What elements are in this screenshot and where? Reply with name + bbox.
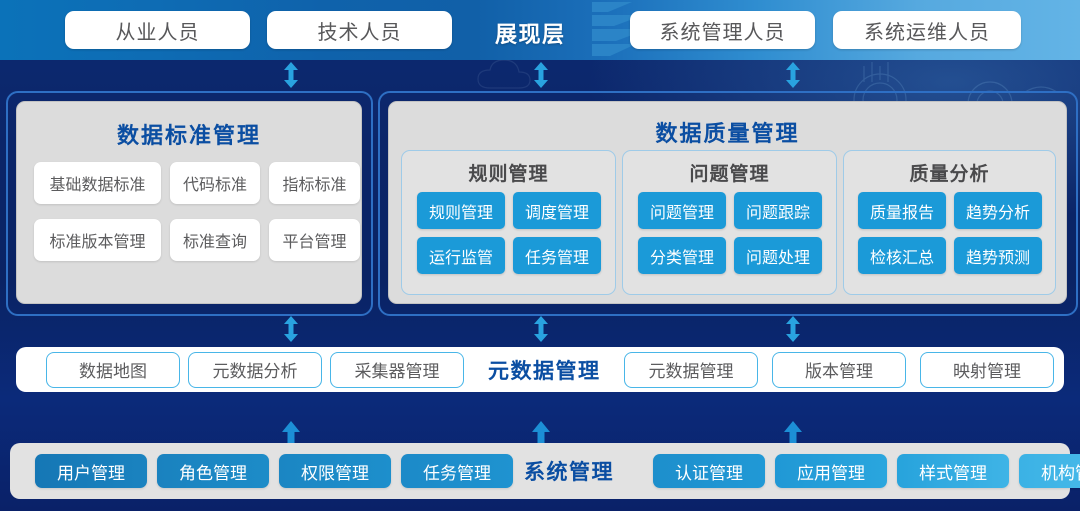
data-standard-title: 数据标准管理 — [17, 118, 361, 150]
button-label: 用户管理 — [57, 459, 125, 484]
metadata-management-title: 元数据管理 — [488, 355, 601, 385]
quality-group-title: 质量分析 — [844, 159, 1055, 186]
role-pill-2[interactable]: 系统管理人员 — [630, 11, 815, 49]
double-arrow-icon-3 — [785, 62, 801, 88]
metadata-button-2[interactable]: 采集器管理 — [330, 352, 464, 388]
button-label: 元数据管理 — [649, 357, 734, 382]
button-label: 数据地图 — [79, 357, 147, 382]
double-arrow-icon-5 — [533, 316, 549, 342]
button-label: 质量报告 — [870, 199, 934, 223]
quality-button[interactable]: 质量报告 — [858, 192, 946, 229]
quality-button[interactable]: 趋势预测 — [954, 237, 1042, 274]
system-button-1[interactable]: 角色管理 — [157, 454, 269, 488]
metadata-button-5[interactable]: 映射管理 — [920, 352, 1054, 388]
double-arrow-icon-2 — [533, 62, 549, 88]
role-pill-1[interactable]: 技术人员 — [267, 11, 452, 49]
quality-group-0: 规则管理 规则管理 调度管理 运行监管 任务管理 — [401, 150, 616, 295]
quality-button[interactable]: 检核汇总 — [858, 237, 946, 274]
button-label: 基础数据标准 — [49, 171, 145, 195]
button-label: 元数据分析 — [213, 357, 298, 382]
quality-button[interactable]: 问题跟踪 — [734, 192, 822, 229]
architecture-diagram: 从业人员 技术人员 展现层 系统管理人员 系统运维人员 数据标准管理 基础数据标… — [0, 0, 1080, 511]
system-management-title: 系统管理 — [524, 456, 614, 486]
data-quality-panel: 数据质量管理 规则管理 规则管理 调度管理 运行监管 任务管理 问题管 — [388, 101, 1067, 304]
button-label: 映射管理 — [953, 357, 1021, 382]
double-arrow-icon-4 — [283, 316, 299, 342]
button-label: 版本管理 — [805, 357, 873, 382]
button-label: 问题处理 — [746, 244, 810, 268]
button-label: 检核汇总 — [870, 244, 934, 268]
button-label: 趋势分析 — [966, 199, 1030, 223]
button-label: 标准版本管理 — [49, 228, 145, 252]
button-label: 运行监管 — [429, 244, 493, 268]
button-label: 问题管理 — [650, 199, 714, 223]
quality-group-2: 质量分析 质量报告 趋势分析 检核汇总 趋势预测 — [843, 150, 1056, 295]
button-label: 规则管理 — [429, 199, 493, 223]
data-standard-panel: 数据标准管理 基础数据标准 代码标准 指标标准 标准版本管理 标准查询 平台管理 — [16, 101, 362, 304]
role-label: 系统管理人员 — [660, 16, 786, 45]
button-label: 权限管理 — [301, 459, 369, 484]
metadata-button-0[interactable]: 数据地图 — [46, 352, 180, 388]
quality-button[interactable]: 规则管理 — [417, 192, 505, 229]
quality-button[interactable]: 趋势分析 — [954, 192, 1042, 229]
metadata-button-1[interactable]: 元数据分析 — [188, 352, 322, 388]
standard-button-3[interactable]: 标准版本管理 — [34, 219, 161, 261]
system-management-row: 用户管理 角色管理 权限管理 任务管理 系统管理 认证管理 应用管理 样式管理 … — [10, 443, 1070, 499]
quality-button[interactable]: 问题管理 — [638, 192, 726, 229]
system-button-6[interactable]: 样式管理 — [897, 454, 1009, 488]
button-label: 问题跟踪 — [746, 199, 810, 223]
button-label: 采集器管理 — [355, 357, 440, 382]
standard-button-0[interactable]: 基础数据标准 — [34, 162, 161, 204]
button-label: 机构管理 — [1041, 459, 1080, 484]
button-label: 任务管理 — [525, 244, 589, 268]
data-quality-title: 数据质量管理 — [389, 116, 1066, 148]
standard-button-1[interactable]: 代码标准 — [170, 162, 260, 204]
system-button-2[interactable]: 权限管理 — [279, 454, 391, 488]
role-label: 系统运维人员 — [864, 16, 990, 45]
quality-button[interactable]: 分类管理 — [638, 237, 726, 274]
standard-button-4[interactable]: 标准查询 — [170, 219, 260, 261]
role-label: 技术人员 — [318, 16, 402, 45]
button-label: 认证管理 — [675, 459, 743, 484]
double-arrow-icon-6 — [785, 316, 801, 342]
quality-group-title: 规则管理 — [402, 159, 615, 186]
standard-button-2[interactable]: 指标标准 — [269, 162, 360, 204]
role-pill-3[interactable]: 系统运维人员 — [833, 11, 1021, 49]
button-label: 分类管理 — [650, 244, 714, 268]
system-button-7[interactable]: 机构管理 — [1019, 454, 1080, 488]
button-label: 任务管理 — [423, 459, 491, 484]
quality-button[interactable]: 调度管理 — [513, 192, 601, 229]
button-label: 趋势预测 — [966, 244, 1030, 268]
metadata-button-4[interactable]: 版本管理 — [772, 352, 906, 388]
quality-button[interactable]: 任务管理 — [513, 237, 601, 274]
standard-button-5[interactable]: 平台管理 — [269, 219, 360, 261]
metadata-management-row: 数据地图 元数据分析 采集器管理 元数据管理 元数据管理 版本管理 映射管理 — [16, 347, 1064, 392]
button-label: 应用管理 — [797, 459, 865, 484]
system-button-5[interactable]: 应用管理 — [775, 454, 887, 488]
button-label: 标准查询 — [183, 228, 247, 252]
presentation-layer-title: 展现层 — [495, 17, 566, 49]
quality-group-1: 问题管理 问题管理 问题跟踪 分类管理 问题处理 — [622, 150, 837, 295]
role-label: 从业人员 — [116, 16, 200, 45]
quality-group-title: 问题管理 — [623, 159, 836, 186]
system-button-4[interactable]: 认证管理 — [653, 454, 765, 488]
quality-button[interactable]: 问题处理 — [734, 237, 822, 274]
button-label: 角色管理 — [179, 459, 247, 484]
button-label: 样式管理 — [919, 459, 987, 484]
double-arrow-icon-1 — [283, 62, 299, 88]
system-button-3[interactable]: 任务管理 — [401, 454, 513, 488]
button-label: 指标标准 — [282, 171, 346, 195]
button-label: 代码标准 — [183, 171, 247, 195]
role-pill-0[interactable]: 从业人员 — [65, 11, 250, 49]
button-label: 平台管理 — [282, 228, 346, 252]
metadata-button-3[interactable]: 元数据管理 — [624, 352, 758, 388]
button-label: 调度管理 — [525, 199, 589, 223]
presentation-layer-bar: 从业人员 技术人员 展现层 系统管理人员 系统运维人员 — [0, 0, 1080, 60]
system-button-0[interactable]: 用户管理 — [35, 454, 147, 488]
quality-button[interactable]: 运行监管 — [417, 237, 505, 274]
